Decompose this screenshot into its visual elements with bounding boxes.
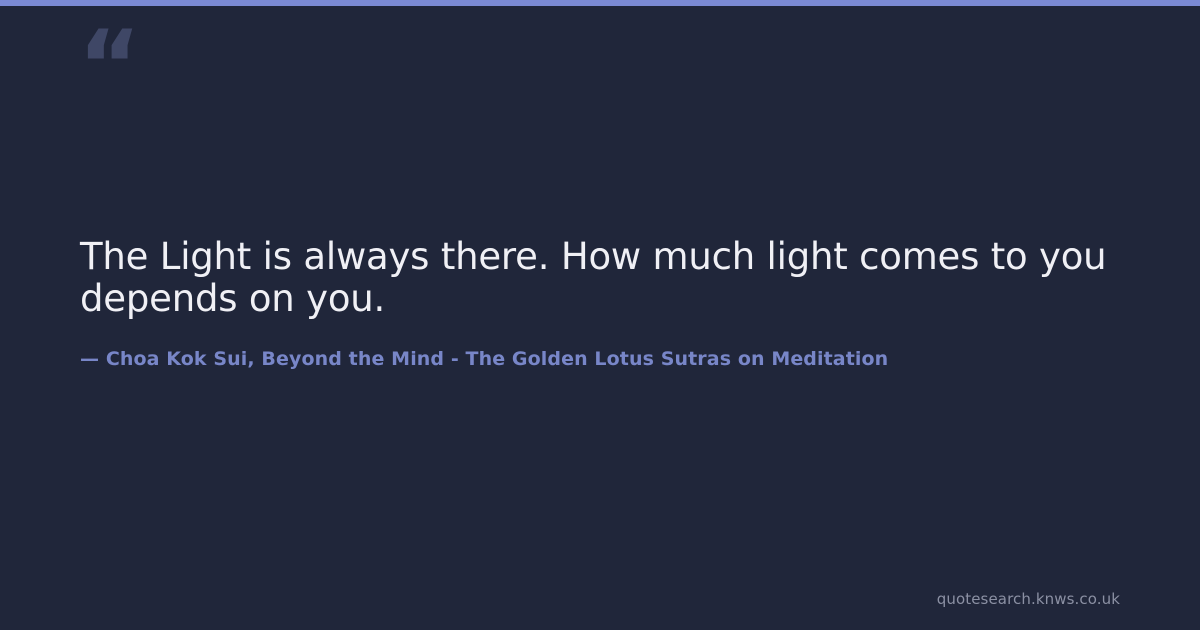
top-accent-bar: [0, 0, 1200, 6]
quote-text: The Light is always there. How much ligh…: [80, 236, 1120, 320]
quote-attribution: — Choa Kok Sui, Beyond the Mind - The Go…: [80, 346, 1120, 372]
quote-card: “ The Light is always there. How much li…: [0, 0, 1200, 630]
opening-double-quote-icon: “: [78, 18, 139, 114]
footer-site-url: quotesearch.knws.co.uk: [937, 590, 1120, 608]
quote-content: The Light is always there. How much ligh…: [80, 236, 1120, 372]
